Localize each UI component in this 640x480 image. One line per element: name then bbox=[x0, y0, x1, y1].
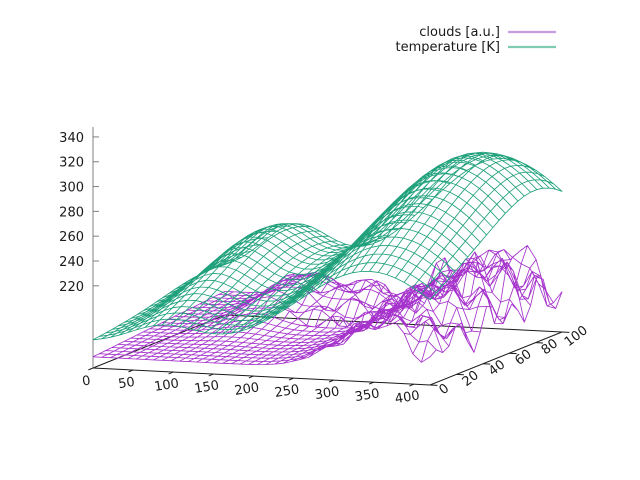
x-tick-label-50: 50 bbox=[117, 375, 136, 392]
z-tick-label-280: 280 bbox=[59, 205, 84, 220]
x-tick-label-300: 300 bbox=[314, 384, 341, 403]
y-tick-label-front-100: 100 bbox=[562, 323, 591, 350]
x-tick-label-250: 250 bbox=[274, 382, 301, 401]
x-tick-label-0: 0 bbox=[81, 373, 92, 389]
x-tick-label-100: 100 bbox=[153, 376, 180, 395]
z-tick-label-260: 260 bbox=[59, 230, 84, 245]
x-tick bbox=[88, 368, 93, 370]
z-tick-label-220: 220 bbox=[59, 280, 84, 295]
x-tick-label-400: 400 bbox=[394, 388, 421, 407]
z-tick-label-320: 320 bbox=[59, 156, 84, 171]
z-tick-label-340: 340 bbox=[59, 131, 84, 146]
x-tick-label-150: 150 bbox=[193, 378, 220, 397]
x-tick-label-350: 350 bbox=[354, 386, 381, 405]
surface-plot-3d: 3403203002802602402200501001502002503003… bbox=[0, 0, 640, 480]
legend-label-0: clouds [a.u.] bbox=[419, 25, 500, 40]
y-tick-label-front-0: 0 bbox=[436, 381, 452, 398]
z-tick-label-240: 240 bbox=[59, 255, 84, 270]
x-tick-label-200: 200 bbox=[233, 380, 260, 399]
legend-label-1: temperature [K] bbox=[395, 40, 500, 55]
plot-canvas: 3403203002802602402200501001502002503003… bbox=[0, 0, 640, 480]
z-tick-label-300: 300 bbox=[59, 181, 84, 196]
x-axis-line bbox=[93, 368, 430, 385]
